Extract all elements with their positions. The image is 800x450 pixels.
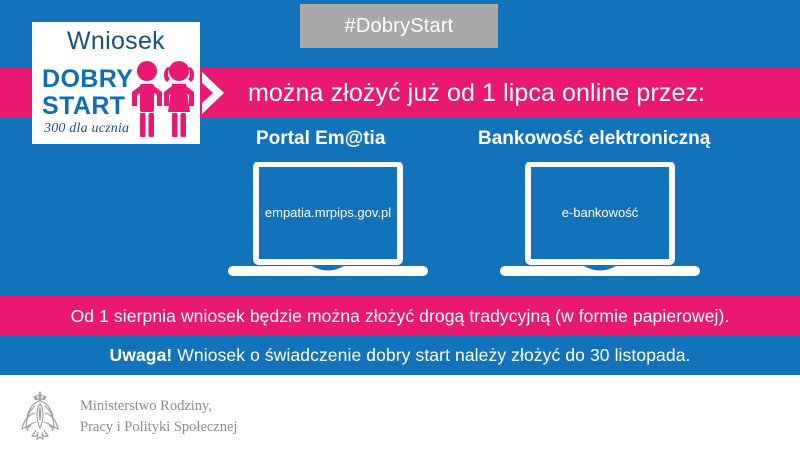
channel-heading-bankowosc: Bankowość elektroniczną bbox=[478, 128, 710, 150]
dobry-start-logo-card: Wniosek DOBRY START 300 dla ucznia bbox=[32, 22, 200, 144]
screen-label-empatia: empatia.mrpips.gov.pl bbox=[233, 205, 423, 220]
note-line: Uwaga! Wniosek o świadczenie dobry start… bbox=[110, 345, 691, 366]
screen-label-bankowosc: e-bankowość bbox=[505, 205, 695, 220]
ministry-line-2: Pracy i Polityki Społecznej bbox=[80, 417, 237, 438]
laptop-icon-bankowosc bbox=[500, 162, 700, 282]
hashtag-box: #DobryStart bbox=[300, 4, 498, 48]
laptop-icon-empatia bbox=[228, 162, 428, 282]
logo-wniosek-text: Wniosek bbox=[32, 27, 200, 56]
ministry-name: Ministerstwo Rodziny, Pracy i Polityki S… bbox=[80, 396, 237, 438]
hashtag-label: #DobryStart bbox=[345, 15, 454, 38]
note-text: Wniosek o świadczenie dobry start należy… bbox=[172, 345, 690, 365]
polish-eagle-emblem-icon bbox=[14, 388, 66, 444]
channel-heading-empatia: Portal Em@tia bbox=[256, 128, 385, 150]
two-children-pictogram-icon bbox=[128, 60, 196, 140]
logo-start-text: START bbox=[42, 94, 125, 119]
logo-subtitle-text: 300 dla ucznia bbox=[44, 121, 129, 137]
ministry-line-1: Ministerstwo Rodziny, bbox=[80, 396, 237, 417]
logo-dobry-text: DOBRY bbox=[42, 67, 133, 92]
chevron-right-icon bbox=[200, 72, 226, 114]
banner-bottom-text: Od 1 sierpnia wniosek będzie można złoży… bbox=[71, 306, 730, 327]
poster-root: #DobryStart Wniosek DOBRY START 300 dla … bbox=[0, 0, 800, 450]
pink-banner-bottom: Od 1 sierpnia wniosek będzie można złoży… bbox=[0, 296, 800, 336]
banner-top-text: można złożyć już od 1 lipca online przez… bbox=[248, 68, 705, 118]
note-emphasis: Uwaga! bbox=[110, 345, 173, 365]
note-band: Uwaga! Wniosek o świadczenie dobry start… bbox=[0, 336, 800, 375]
